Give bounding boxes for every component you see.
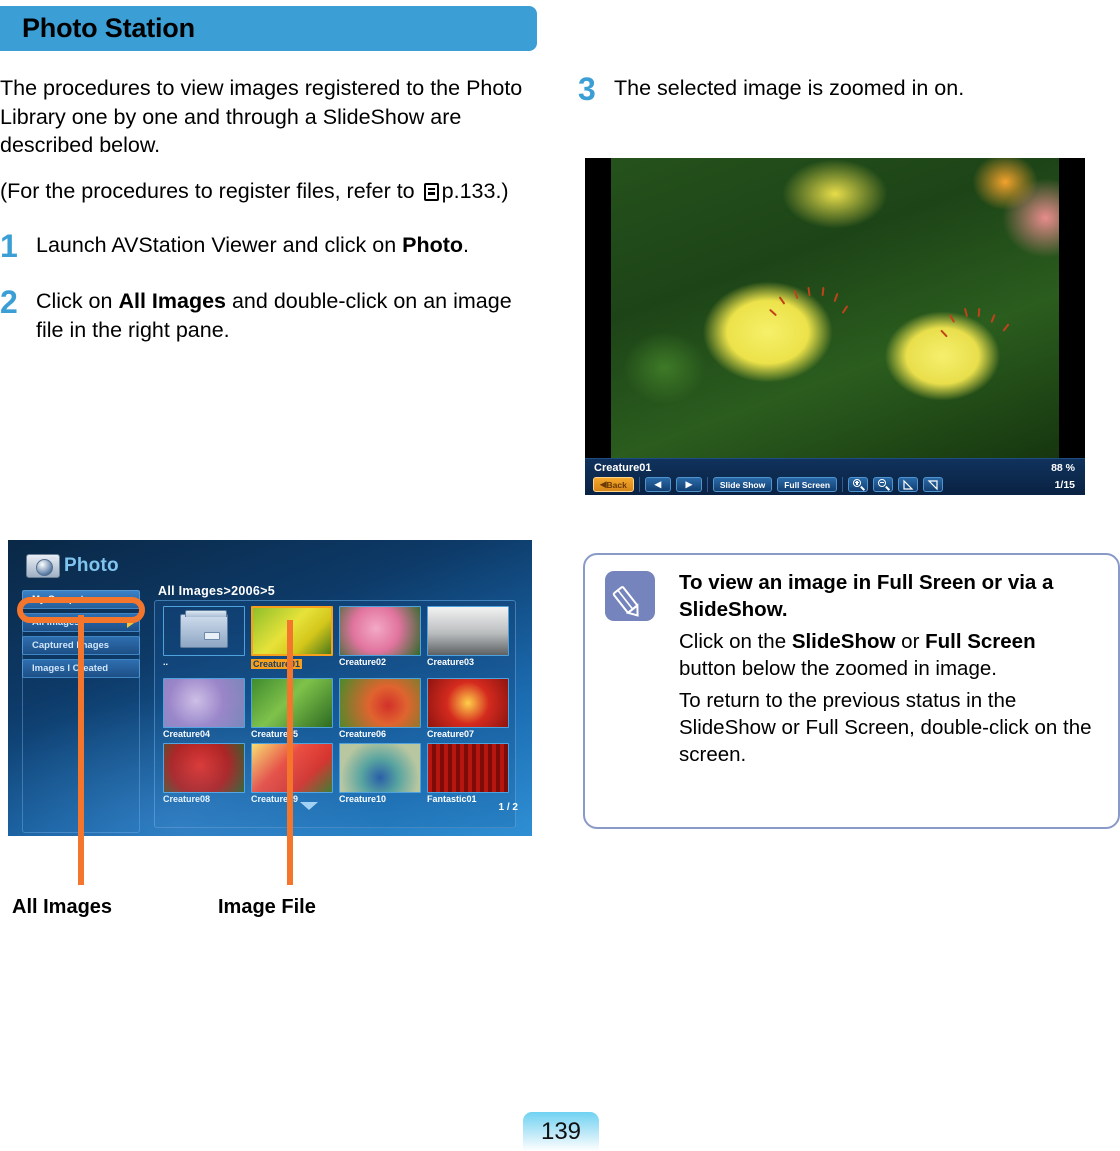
viewer-toolbar: Creature01 88 % 1/15 ◀Back ◀ ▶ Slide Sho… [585,458,1085,495]
chevron-down-icon[interactable] [300,802,318,810]
toolbar-separator [639,477,640,492]
step-1-number: 1 [0,231,36,261]
thumbnail-label: .. [163,657,245,667]
rotate-left-icon [902,479,914,491]
thumbnail-image [427,606,509,656]
book-reference-icon [424,183,439,201]
step-1-text: Launch AVStation Viewer and click on Pho… [36,231,545,261]
arrow-right-icon: ▶ [686,479,693,490]
reference-paragraph: (For the procedures to register files, r… [0,177,545,206]
step-3-text: The selected image is zoomed in on. [614,74,1120,103]
step-2-text-before: Click on [36,289,118,313]
step-3-number: 3 [578,74,614,104]
left-column: The procedures to view images registered… [0,74,545,344]
thumbnail-image [339,743,421,793]
viewer-zoom-out-button[interactable] [873,477,893,492]
note-box: To view an image in Full Sreen or via a … [583,553,1120,829]
thumbnail-label: Creature01 [251,659,302,669]
note-paragraph-2: To return to the previous status in the … [679,687,1096,768]
thumbnail-label: Creature08 [163,794,245,804]
camera-icon [26,554,60,578]
viewer-rotate-left-button[interactable] [898,477,918,492]
page-title: Photo Station [0,13,195,44]
step-2-text: Click on All Images and double-click on … [36,287,545,344]
step-2-bold: All Images [118,289,226,313]
thumbnail-image [427,678,509,728]
thumbnail-image [339,606,421,656]
thumbnail-creature03[interactable]: Creature03 [427,606,509,674]
thumbnail-parent-folder[interactable]: .. [163,606,245,674]
note-p1-c: or [895,630,925,653]
viewer-zoom-percent: 88 % [1051,462,1075,474]
annotation-label-all-images: All Images [12,896,112,919]
rotate-right-icon [927,479,939,491]
annotation-line-all-images [78,615,84,885]
photo-browser-screenshot: Photo My Computer All Images Captured Im… [8,540,532,836]
viewer-next-button[interactable]: ▶ [676,477,702,492]
note-title: To view an image in Full Sreen or via a … [679,569,1096,623]
thumbnail-image [339,678,421,728]
photo-app-logo-label: Photo [64,555,119,577]
reference-text-before: (For the procedures to register files, r… [0,179,415,203]
step-1-text-before: Launch AVStation Viewer and click on [36,233,402,257]
thumbnail-image [163,678,245,728]
thumbnail-label: Creature10 [339,794,421,804]
manual-page: Photo Station The procedures to view ima… [0,0,1120,1151]
step-1: 1 Launch AVStation Viewer and click on P… [0,231,545,261]
sidebar-item-images-i-created-label: Images I Created [32,663,108,674]
step-1-bold: Photo [402,233,463,257]
note-p1-d: button below the zoomed in image. [679,657,997,680]
thumbnail-fantastic01[interactable]: Fantastic01 [427,743,509,804]
right-column: 3 The selected image is zoomed in on. [578,74,1120,104]
page-header-banner: Photo Station [0,6,537,51]
note-p1-a: Click on the [679,630,792,653]
thumbnail-label: Creature04 [163,729,245,739]
reference-text-after: p.133.) [442,179,509,203]
note-p1-bold-slideshow: SlideShow [792,630,896,653]
viewer-back-label: Back [607,480,627,490]
thumbnail-label: Creature06 [339,729,421,739]
step-2-number: 2 [0,287,36,344]
annotation-label-image-file: Image File [218,896,316,919]
viewer-photo [611,158,1059,458]
thumbnail-creature08[interactable]: Creature08 [163,743,245,804]
step-3: 3 The selected image is zoomed in on. [578,74,1120,104]
viewer-button-row: ◀Back ◀ ▶ Slide Show Full Screen [593,477,943,492]
annotation-line-image-file [287,620,293,885]
thumbnail-creature04[interactable]: Creature04 [163,678,245,739]
toolbar-separator [842,477,843,492]
thumbnail-creature10[interactable]: Creature10 [339,743,421,804]
viewer-rotate-right-button[interactable] [923,477,943,492]
viewer-zoom-in-button[interactable] [848,477,868,492]
viewer-back-button[interactable]: ◀Back [593,477,634,492]
breadcrumb: All Images>2006>5 [158,584,275,598]
zoom-in-icon [853,479,864,490]
image-viewer-screenshot: ▮imageDJ www.imageDJ.co.kr Creature01 88… [585,158,1085,495]
step-2: 2 Click on All Images and double-click o… [0,287,545,344]
thumbnail-creature07[interactable]: Creature07 [427,678,509,739]
page-number: 139 [523,1112,599,1151]
note-paragraph-1: Click on the SlideShow or Full Screen bu… [679,628,1096,682]
arrow-left-icon: ◀ [655,479,662,490]
pencil-note-icon [605,571,655,621]
step-1-text-after: . [463,233,469,257]
photo-app-logo: Photo [26,554,119,578]
thumbnail-creature02[interactable]: Creature02 [339,606,421,674]
viewer-image-index: 1/15 [1055,479,1075,491]
pager-indicator: 1 / 2 [499,802,518,813]
sidebar-item-captured-images-label: Captured Images [32,640,109,651]
thumbnail-grid: .. Creature01 Creature02 Creature03 Crea… [163,606,509,804]
thumbnail-image [163,743,245,793]
thumbnail-label: Fantastic01 [427,794,509,804]
viewer-slide-show-button[interactable]: Slide Show [713,477,772,492]
thumbnail-label: Creature02 [339,657,421,667]
viewer-prev-button[interactable]: ◀ [645,477,671,492]
thumbnail-label: Creature03 [427,657,509,667]
toolbar-separator [707,477,708,492]
zoom-out-icon [878,479,889,490]
folder-icon [163,606,245,656]
note-p1-bold-fullscreen: Full Screen [925,630,1036,653]
thumbnail-label: Creature07 [427,729,509,739]
thumbnail-image [427,743,509,793]
viewer-full-screen-button[interactable]: Full Screen [777,477,837,492]
thumbnail-creature06[interactable]: Creature06 [339,678,421,739]
intro-paragraph: The procedures to view images registered… [0,74,545,160]
viewer-file-name: Creature01 [594,462,651,474]
note-content: To view an image in Full Sreen or via a … [679,569,1096,768]
